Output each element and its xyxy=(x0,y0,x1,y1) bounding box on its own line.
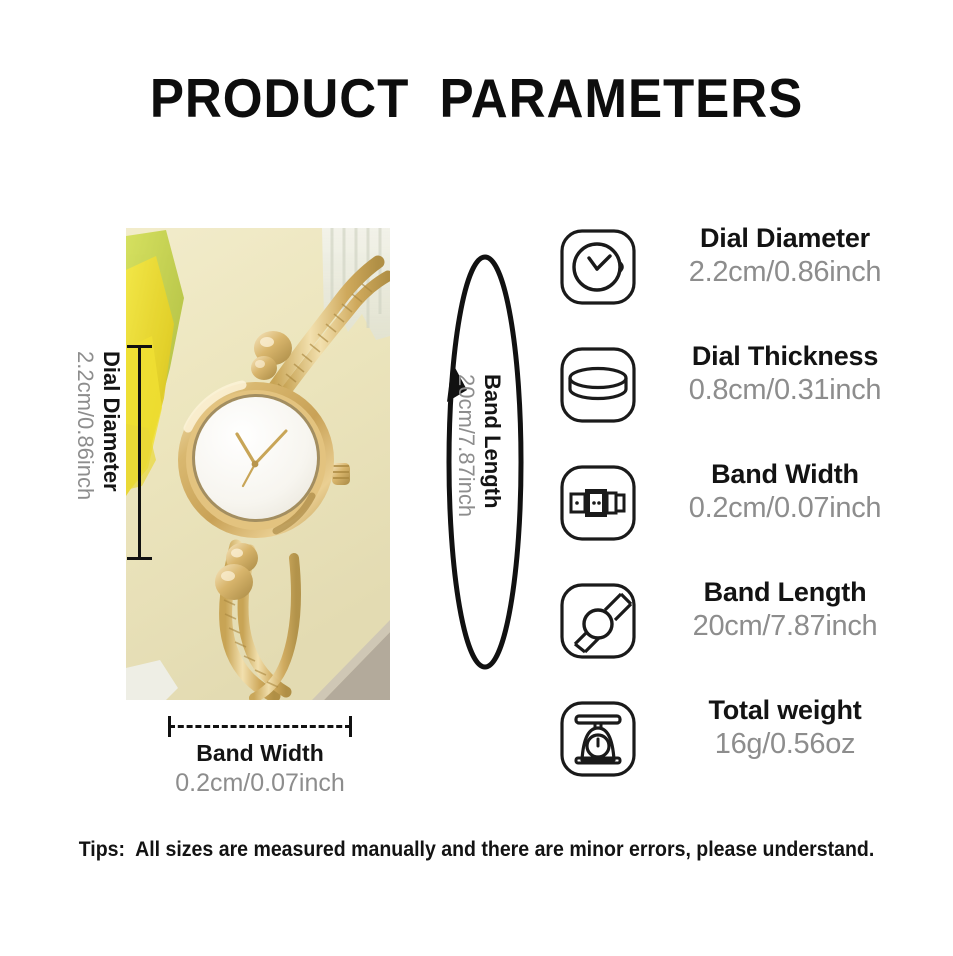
measure-cap-right xyxy=(349,716,352,737)
page-title: PRODUCT PARAMETERS xyxy=(33,66,919,130)
disc-thickness-icon xyxy=(557,344,639,426)
product-photo xyxy=(126,228,390,700)
spec-row-total-weight: Total weight 16g/0.56oz xyxy=(552,694,922,812)
spec-label: Dial Thickness xyxy=(648,340,922,373)
watch-dial-icon xyxy=(557,226,639,308)
band-length-label: Band Length xyxy=(481,374,503,508)
spec-text-band-length: Band Length 20cm/7.87inch xyxy=(648,576,922,643)
tips-note: Tips: All sizes are measured manually an… xyxy=(33,838,919,862)
spec-value: 16g/0.56oz xyxy=(648,727,922,761)
measure-cap-bottom xyxy=(127,557,152,560)
band-width-label: Band Width xyxy=(160,740,360,767)
spec-text-total-weight: Total weight 16g/0.56oz xyxy=(648,694,922,761)
spec-value: 2.2cm/0.86inch xyxy=(648,255,922,289)
kitchen-scale-icon xyxy=(557,698,639,780)
spec-row-dial-thickness: Dial Thickness 0.8cm/0.31inch xyxy=(552,340,922,458)
spec-row-band-length: Band Length 20cm/7.87inch xyxy=(552,576,922,694)
watch-diagonal-icon xyxy=(557,580,639,662)
spec-label: Total weight xyxy=(648,694,922,727)
band-width-measure-annotation: Band Width 0.2cm/0.07inch xyxy=(160,714,360,794)
dial-diameter-measure-annotation: Dial Diameter 2.2cm/0.86inch xyxy=(40,345,150,560)
spec-text-band-width: Band Width 0.2cm/0.07inch xyxy=(648,458,922,525)
band-width-value: 0.2cm/0.07inch xyxy=(138,769,382,798)
spec-text-dial-diameter: Dial Diameter 2.2cm/0.86inch xyxy=(648,222,922,289)
measure-line-dashed xyxy=(169,725,351,728)
spec-label: Band Length xyxy=(648,576,922,609)
spec-label: Dial Diameter xyxy=(648,222,922,255)
spec-value: 0.8cm/0.31inch xyxy=(648,373,922,407)
spec-list: Dial Diameter 2.2cm/0.86inch Dial Thickn… xyxy=(552,222,922,812)
dial-diameter-value: 2.2cm/0.86inch xyxy=(74,351,96,500)
band-length-measure-annotation: Band Length 20cm/7.87inch xyxy=(430,252,540,672)
spec-row-band-width: Band Width 0.2cm/0.07inch xyxy=(552,458,922,576)
spec-value: 20cm/7.87inch xyxy=(648,609,922,643)
spec-text-dial-thickness: Dial Thickness 0.8cm/0.31inch xyxy=(648,340,922,407)
band-length-value: 20cm/7.87inch xyxy=(455,374,477,517)
spec-label: Band Width xyxy=(648,458,922,491)
watch-band-clasp-icon xyxy=(557,462,639,544)
spec-row-dial-diameter: Dial Diameter 2.2cm/0.86inch xyxy=(552,222,922,340)
spec-value: 0.2cm/0.07inch xyxy=(648,491,922,525)
dial-diameter-label: Dial Diameter xyxy=(100,351,122,492)
measure-line-vertical xyxy=(138,345,141,560)
